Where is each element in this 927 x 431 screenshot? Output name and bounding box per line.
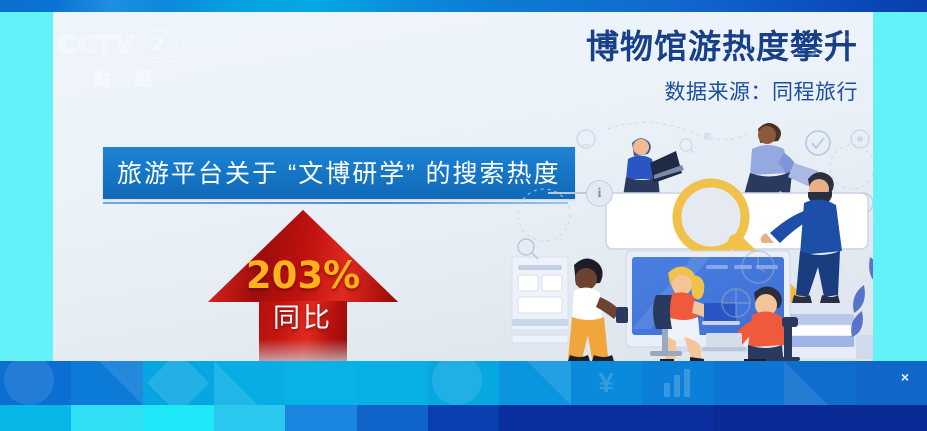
cctv-logo: CCTV 2 财 经 xyxy=(58,30,188,92)
band-block: ¥ xyxy=(571,361,642,405)
cctv-logo-wordmark: CCTV 2 xyxy=(58,30,188,59)
data-source-label: 数据来源：同程旅行 xyxy=(548,76,858,106)
band-block xyxy=(71,361,142,405)
band-block xyxy=(0,361,71,405)
band-block xyxy=(285,361,356,405)
statistic-comparison-label: 同比 xyxy=(208,296,398,335)
band-block-lower xyxy=(143,405,214,431)
bottom-band-cell xyxy=(285,361,356,431)
cctv-logo-divider xyxy=(60,61,178,62)
cctv-channel-number: 2 xyxy=(141,30,177,59)
bottom-band-cell xyxy=(214,361,285,431)
page-title: 博物馆游热度攀升 xyxy=(548,28,858,66)
band-block xyxy=(642,361,713,405)
band-block-lower xyxy=(642,405,713,431)
headline-block: 博物馆游热度攀升 数据来源：同程旅行 xyxy=(548,28,858,106)
top-gradient-band xyxy=(0,0,927,12)
yen-icon: ¥ xyxy=(571,361,642,405)
caption-underline xyxy=(103,202,568,204)
band-block-lower xyxy=(499,405,570,431)
bottom-band-cell xyxy=(143,361,214,431)
content-panel: CCTV 2 财 经 博物馆游热度攀升 数据来源：同程旅行 WUHAN .com… xyxy=(53,12,873,361)
band-block xyxy=(713,361,784,405)
caption-block: 旅游平台关于 “文博研学” 的搜索热度 xyxy=(103,147,575,204)
left-cards xyxy=(512,239,568,343)
band-block-lower xyxy=(214,405,285,431)
band-block-lower xyxy=(428,405,499,431)
cctv-channel-name: 财 经 xyxy=(58,65,188,90)
person-standing-left xyxy=(568,258,628,361)
band-block-lower xyxy=(856,405,927,431)
band-block-lower xyxy=(357,405,428,431)
bottom-band-cell xyxy=(499,361,570,431)
band-block xyxy=(357,361,428,405)
band-block xyxy=(499,361,570,405)
statistic-up-arrow: 203% 同比 xyxy=(208,210,398,360)
bottom-band-cell-currency: ¥ xyxy=(571,361,642,431)
bottom-band-cell xyxy=(71,361,142,431)
broadcast-screen: CCTV 2 财 经 博物馆游热度攀升 数据来源：同程旅行 WUHAN .com… xyxy=(0,0,927,431)
plant-decor xyxy=(851,257,873,359)
band-block-lower xyxy=(0,405,71,431)
statistic-value: 203% xyxy=(208,254,398,297)
caption-bar: 旅游平台关于 “文博研学” 的搜索热度 xyxy=(103,147,575,199)
bottom-band-cell xyxy=(428,361,499,431)
close-icon[interactable]: × xyxy=(901,369,909,385)
band-block-lower xyxy=(713,405,784,431)
cctv-channel-char-2: 经 xyxy=(135,65,152,90)
info-icon: i xyxy=(586,180,613,207)
bottom-band-cell: × xyxy=(856,361,927,431)
band-block xyxy=(784,361,855,405)
bottom-band-cell-bars xyxy=(642,361,713,431)
info-icon-leader-line xyxy=(548,192,588,194)
band-block xyxy=(143,361,214,405)
bottom-band-cell xyxy=(0,361,71,431)
band-block-lower xyxy=(571,405,642,431)
band-block xyxy=(428,361,499,405)
bottom-band-cell xyxy=(713,361,784,431)
online-search-illustration: i xyxy=(508,107,873,361)
bottom-decor-band: ¥ × xyxy=(0,361,927,431)
bar-chart-icon xyxy=(664,369,690,397)
cctv-logo-text: CCTV xyxy=(58,30,135,59)
bottom-band-cell xyxy=(784,361,855,431)
illustration-svg xyxy=(508,107,873,361)
band-block-lower xyxy=(71,405,142,431)
band-block-lower xyxy=(784,405,855,431)
band-block: × xyxy=(856,361,927,405)
left-cyan-strip xyxy=(0,12,53,361)
bottom-band-cell xyxy=(357,361,428,431)
cctv-channel-char-1: 财 xyxy=(94,65,111,90)
band-block-lower xyxy=(285,405,356,431)
band-block xyxy=(214,361,285,405)
right-cyan-strip xyxy=(873,12,927,361)
